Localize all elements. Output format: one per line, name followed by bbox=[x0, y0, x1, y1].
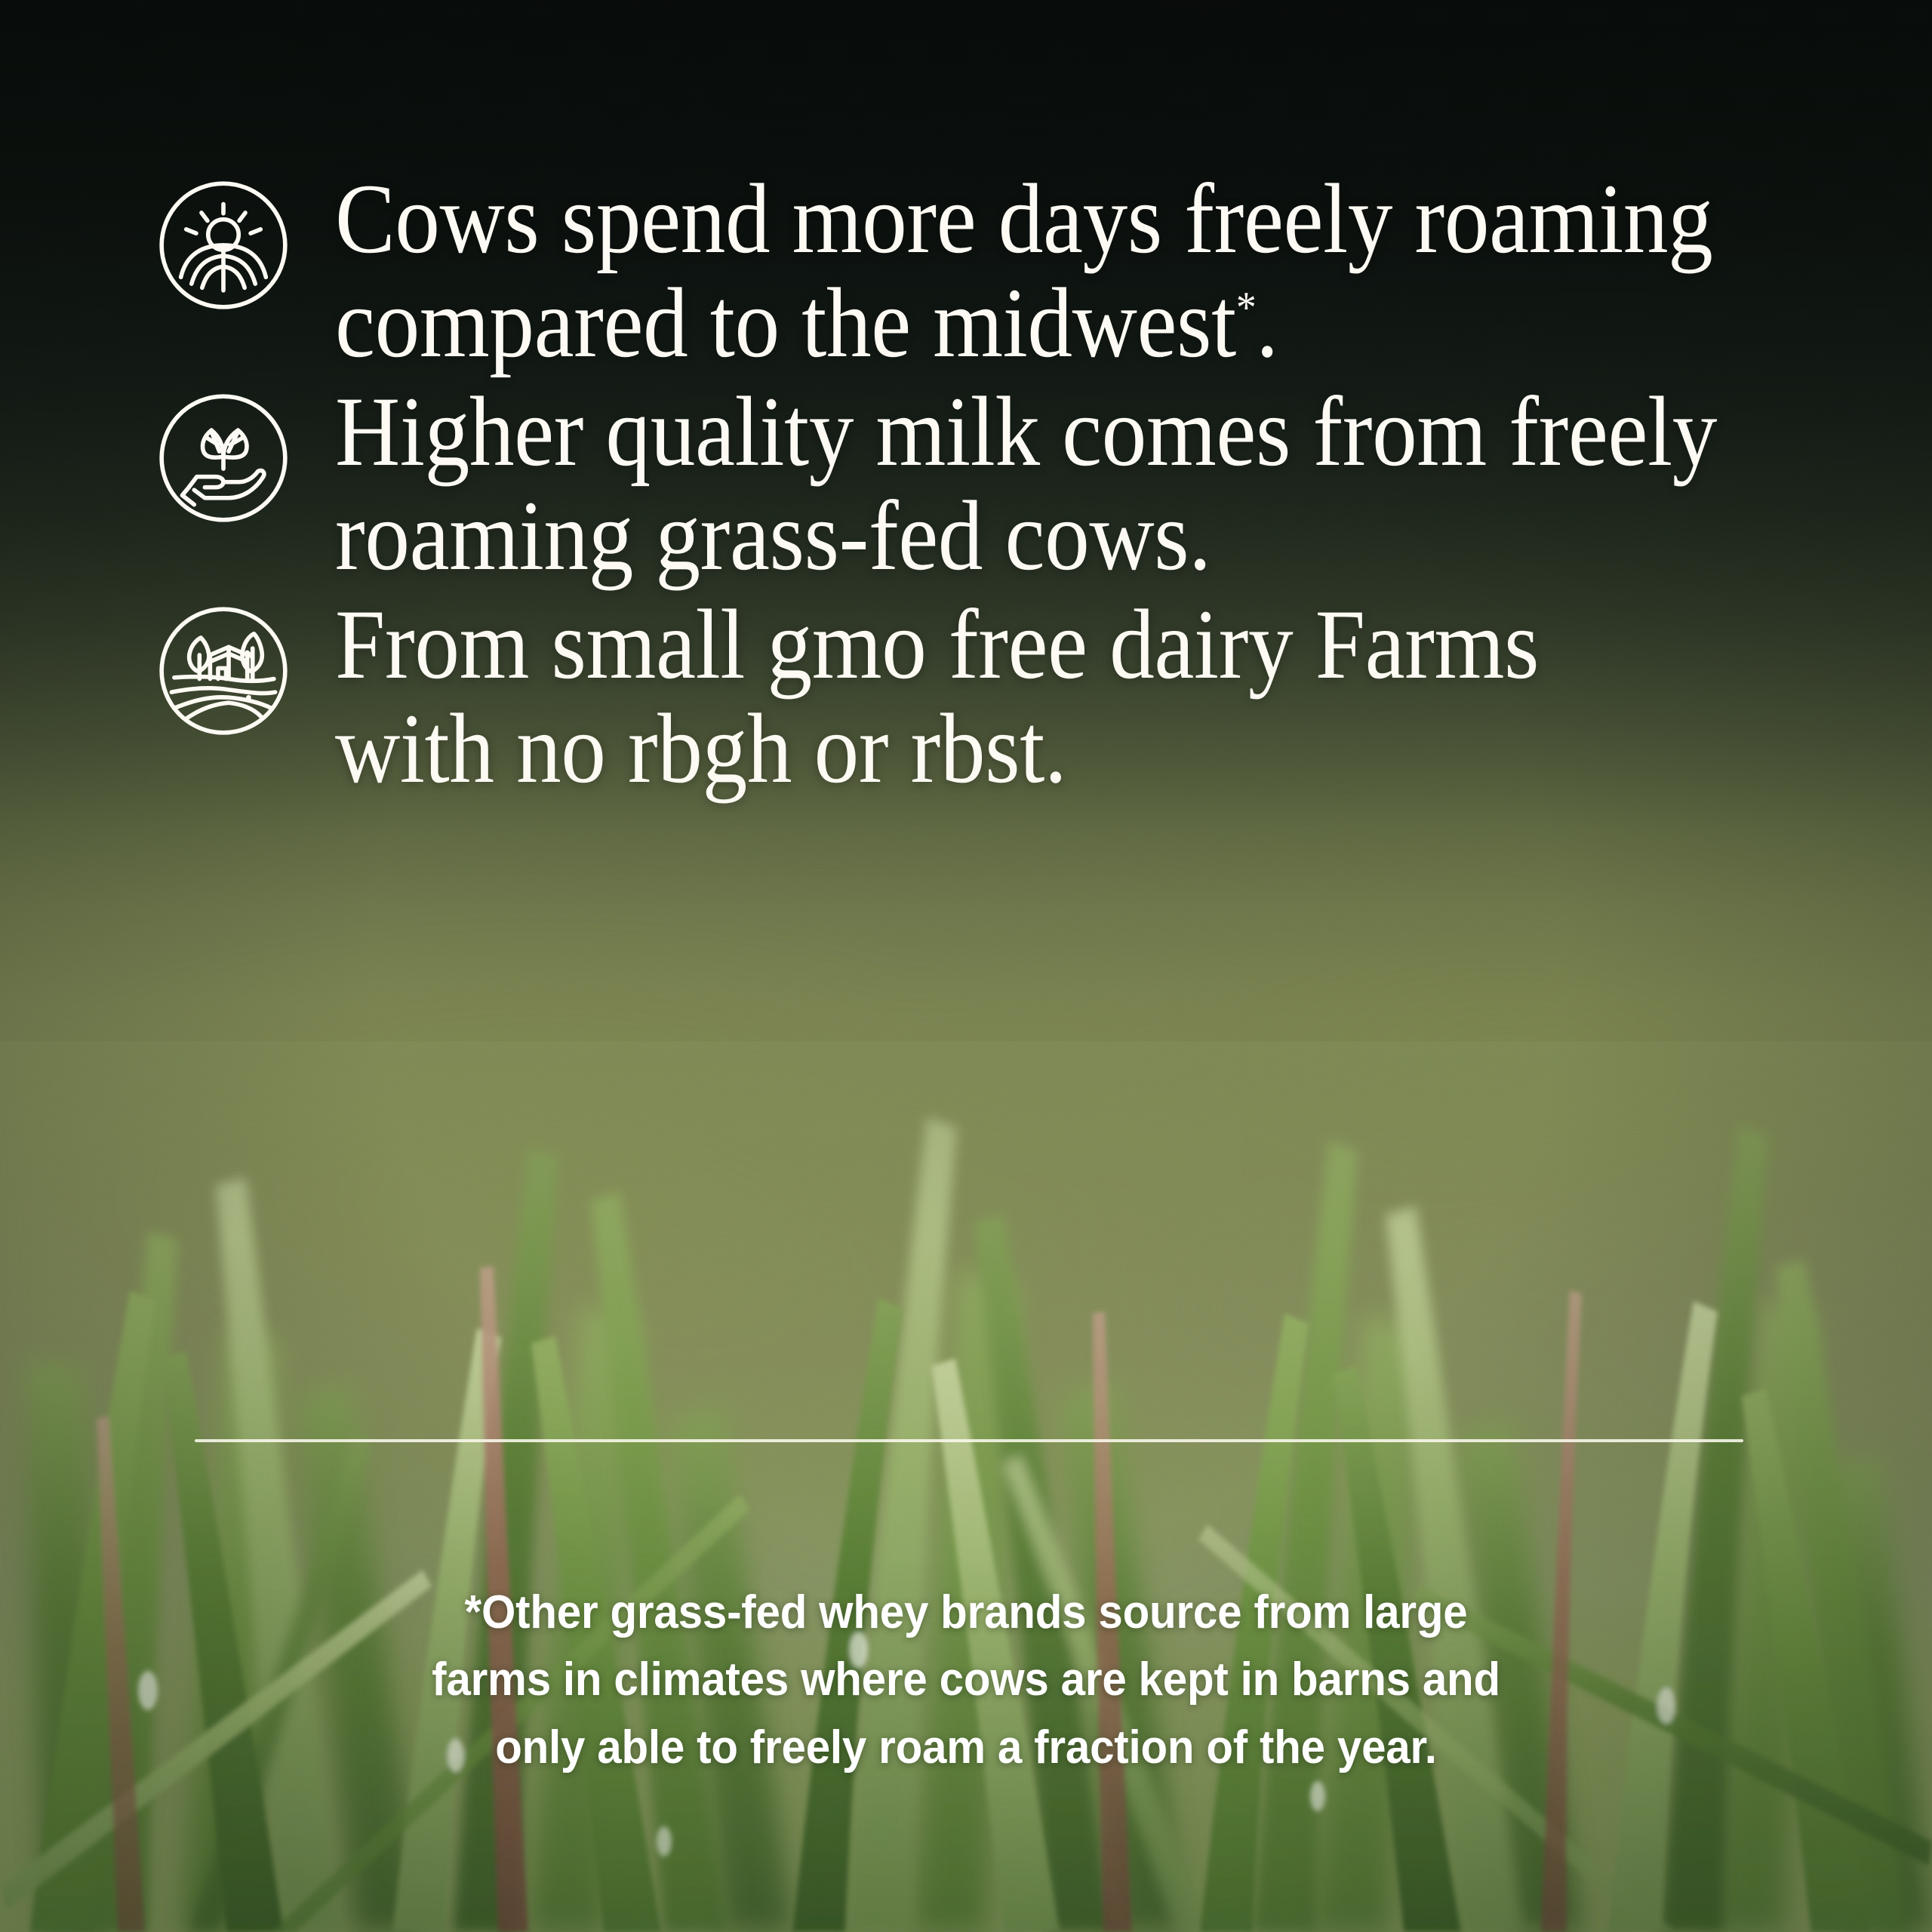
horizontal-divider bbox=[195, 1439, 1743, 1442]
benefit-text-main: Higher quality milk comes from freely ro… bbox=[335, 376, 1717, 591]
promotional-graphic: Cows spend more days freely roaming comp… bbox=[0, 0, 1932, 1932]
footnote-line-2: farms in climates where cows are kept in… bbox=[342, 1646, 1590, 1713]
benefit-text-main: From small gmo free dairy Farms with no … bbox=[335, 589, 1539, 804]
benefit-text-tail: . bbox=[1256, 267, 1278, 378]
benefit-list: Cows spend more days freely roaming comp… bbox=[157, 162, 1863, 801]
benefit-text: Higher quality milk comes from freely ro… bbox=[335, 375, 1718, 588]
benefit-item: Higher quality milk comes from freely ro… bbox=[157, 375, 1863, 588]
footnote-line-1: *Other grass-fed whey brands source from… bbox=[342, 1579, 1590, 1646]
hand-holding-sprout-icon bbox=[157, 392, 290, 525]
barn-with-fields-icon bbox=[157, 605, 290, 737]
footnote-line-3: only able to freely roam a fraction of t… bbox=[342, 1714, 1590, 1781]
footnote-marker: * bbox=[1236, 282, 1256, 332]
benefit-text-main: Cows spend more days freely roaming comp… bbox=[335, 163, 1712, 378]
benefit-item: Cows spend more days freely roaming comp… bbox=[157, 162, 1863, 375]
sun-over-fields-icon bbox=[157, 179, 290, 312]
footnote-disclaimer: *Other grass-fed whey brands source from… bbox=[302, 1579, 1630, 1781]
benefit-text: Cows spend more days freely roaming comp… bbox=[335, 162, 1718, 375]
content-layer: Cows spend more days freely roaming comp… bbox=[0, 0, 1932, 1932]
benefit-text: From small gmo free dairy Farms with no … bbox=[335, 588, 1718, 801]
benefit-item: From small gmo free dairy Farms with no … bbox=[157, 588, 1863, 801]
